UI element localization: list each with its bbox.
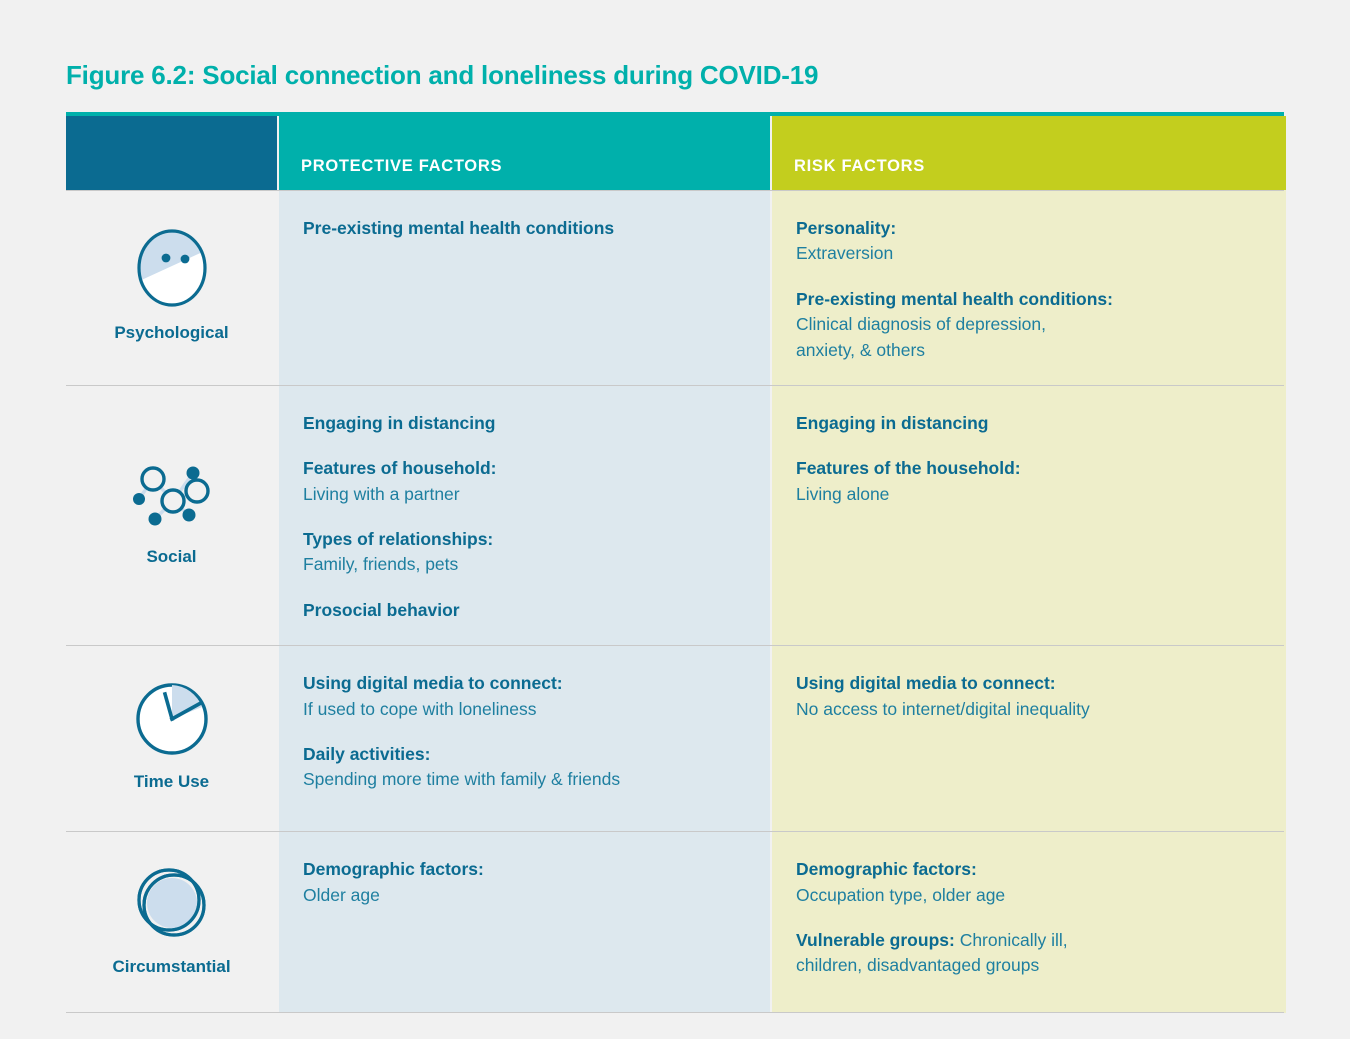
protective-block-heading: Pre-existing mental health conditions (303, 216, 746, 241)
protective-block-body: If used to cope with loneliness (303, 697, 746, 722)
risk-cell-psychological: Personality:ExtraversionPre-existing men… (772, 190, 1286, 385)
risk-block-heading: Features of the household: (796, 456, 1262, 481)
table-row: Psychological Pre-existing mental health… (66, 190, 1284, 385)
table-body: Psychological Pre-existing mental health… (66, 190, 1284, 1013)
figure-page: Figure 6.2: Social connection and loneli… (0, 0, 1350, 1039)
network-nodes-icon (129, 459, 215, 533)
protective-block-heading: Daily activities: (303, 742, 746, 767)
risk-block-body: No access to internet/digital inequality (796, 697, 1262, 722)
face-head-icon (135, 227, 209, 309)
icon-cell-circumstantial: Circumstantial (66, 831, 277, 1013)
protective-cell-circumstantial: Demographic factors:Older age (279, 831, 770, 1013)
protective-block: Types of relationships:Family, friends, … (303, 527, 746, 578)
risk-block-body: Living alone (796, 482, 1262, 507)
icon-label-time-use: Time Use (134, 772, 209, 792)
risk-block-heading: Engaging in distancing (796, 411, 1262, 436)
risk-block: Demographic factors:Occupation type, old… (796, 857, 1262, 908)
table-row: Time Use Using digital media to connect:… (66, 645, 1284, 831)
table-header-row: PROTECTIVE FACTORS RISK FACTORS (66, 116, 1284, 190)
factors-table: PROTECTIVE FACTORS RISK FACTORS Psycholo… (66, 112, 1284, 1013)
icon-label-psychological: Psychological (114, 323, 228, 343)
icon-label-circumstantial: Circumstantial (112, 957, 230, 977)
clock-icon (133, 680, 211, 758)
protective-block-heading: Features of household: (303, 456, 746, 481)
icon-label-social: Social (146, 547, 196, 567)
risk-block-heading: Pre-existing mental health conditions: (796, 287, 1262, 312)
risk-block: Vulnerable groups: Chronically ill,child… (796, 928, 1262, 979)
risk-block: Pre-existing mental health conditions:Cl… (796, 287, 1262, 363)
protective-block-body: Spending more time with family & friends (303, 767, 746, 792)
table-row: Social Engaging in distancingFeatures of… (66, 385, 1284, 645)
risk-block: Engaging in distancing (796, 411, 1262, 436)
protective-cell-social: Engaging in distancingFeatures of househ… (279, 385, 770, 645)
protective-block-heading: Types of relationships: (303, 527, 746, 552)
header-risk-label: RISK FACTORS (794, 157, 925, 176)
icon-cell-time-use: Time Use (66, 645, 277, 831)
header-cell-protective: PROTECTIVE FACTORS (279, 116, 770, 190)
row-divider (66, 190, 1284, 191)
icon-cell-psychological: Psychological (66, 190, 277, 385)
risk-block-heading: Using digital media to connect: (796, 671, 1262, 696)
table-row: Circumstantial Demographic factors:Older… (66, 831, 1284, 1013)
table-bottom-divider (66, 1012, 1284, 1013)
risk-block: Using digital media to connect:No access… (796, 671, 1262, 722)
protective-block: Prosocial behavior (303, 598, 746, 623)
risk-block-heading: Vulnerable groups: (796, 930, 955, 950)
icon-cell-social: Social (66, 385, 277, 645)
protective-block-body: Older age (303, 883, 746, 908)
risk-block-heading: Demographic factors: (796, 857, 1262, 882)
header-cell-icon-column (66, 116, 277, 190)
protective-block: Demographic factors:Older age (303, 857, 746, 908)
header-cell-risk: RISK FACTORS (772, 116, 1286, 190)
risk-cell-time-use: Using digital media to connect:No access… (772, 645, 1286, 831)
row-divider (66, 385, 1284, 386)
risk-block-body: Occupation type, older age (796, 883, 1262, 908)
row-divider (66, 645, 1284, 646)
protective-block-heading: Engaging in distancing (303, 411, 746, 436)
protective-block-body: Family, friends, pets (303, 552, 746, 577)
protective-block-heading: Using digital media to connect: (303, 671, 746, 696)
protective-block-heading: Demographic factors: (303, 857, 746, 882)
protective-block: Pre-existing mental health conditions (303, 216, 746, 241)
page-title: Figure 6.2: Social connection and loneli… (66, 60, 818, 91)
protective-block: Using digital media to connect:If used t… (303, 671, 746, 722)
risk-block-body: Clinical diagnosis of depression,anxiety… (796, 312, 1262, 363)
protective-cell-time-use: Using digital media to connect:If used t… (279, 645, 770, 831)
protective-block: Engaging in distancing (303, 411, 746, 436)
risk-block: Personality:Extraversion (796, 216, 1262, 267)
risk-cell-social: Engaging in distancingFeatures of the ho… (772, 385, 1286, 645)
protective-block: Daily activities:Spending more time with… (303, 742, 746, 793)
risk-cell-circumstantial: Demographic factors:Occupation type, old… (772, 831, 1286, 1013)
risk-block-heading: Personality: (796, 216, 1262, 241)
protective-block: Features of household:Living with a part… (303, 456, 746, 507)
risk-block: Features of the household:Living alone (796, 456, 1262, 507)
row-divider (66, 831, 1284, 832)
header-protective-label: PROTECTIVE FACTORS (301, 157, 502, 176)
protective-block-body: Living with a partner (303, 482, 746, 507)
risk-block-body: Extraversion (796, 241, 1262, 266)
protective-cell-psychological: Pre-existing mental health conditions (279, 190, 770, 385)
concentric-circles-icon (132, 863, 212, 943)
protective-block-heading: Prosocial behavior (303, 598, 746, 623)
